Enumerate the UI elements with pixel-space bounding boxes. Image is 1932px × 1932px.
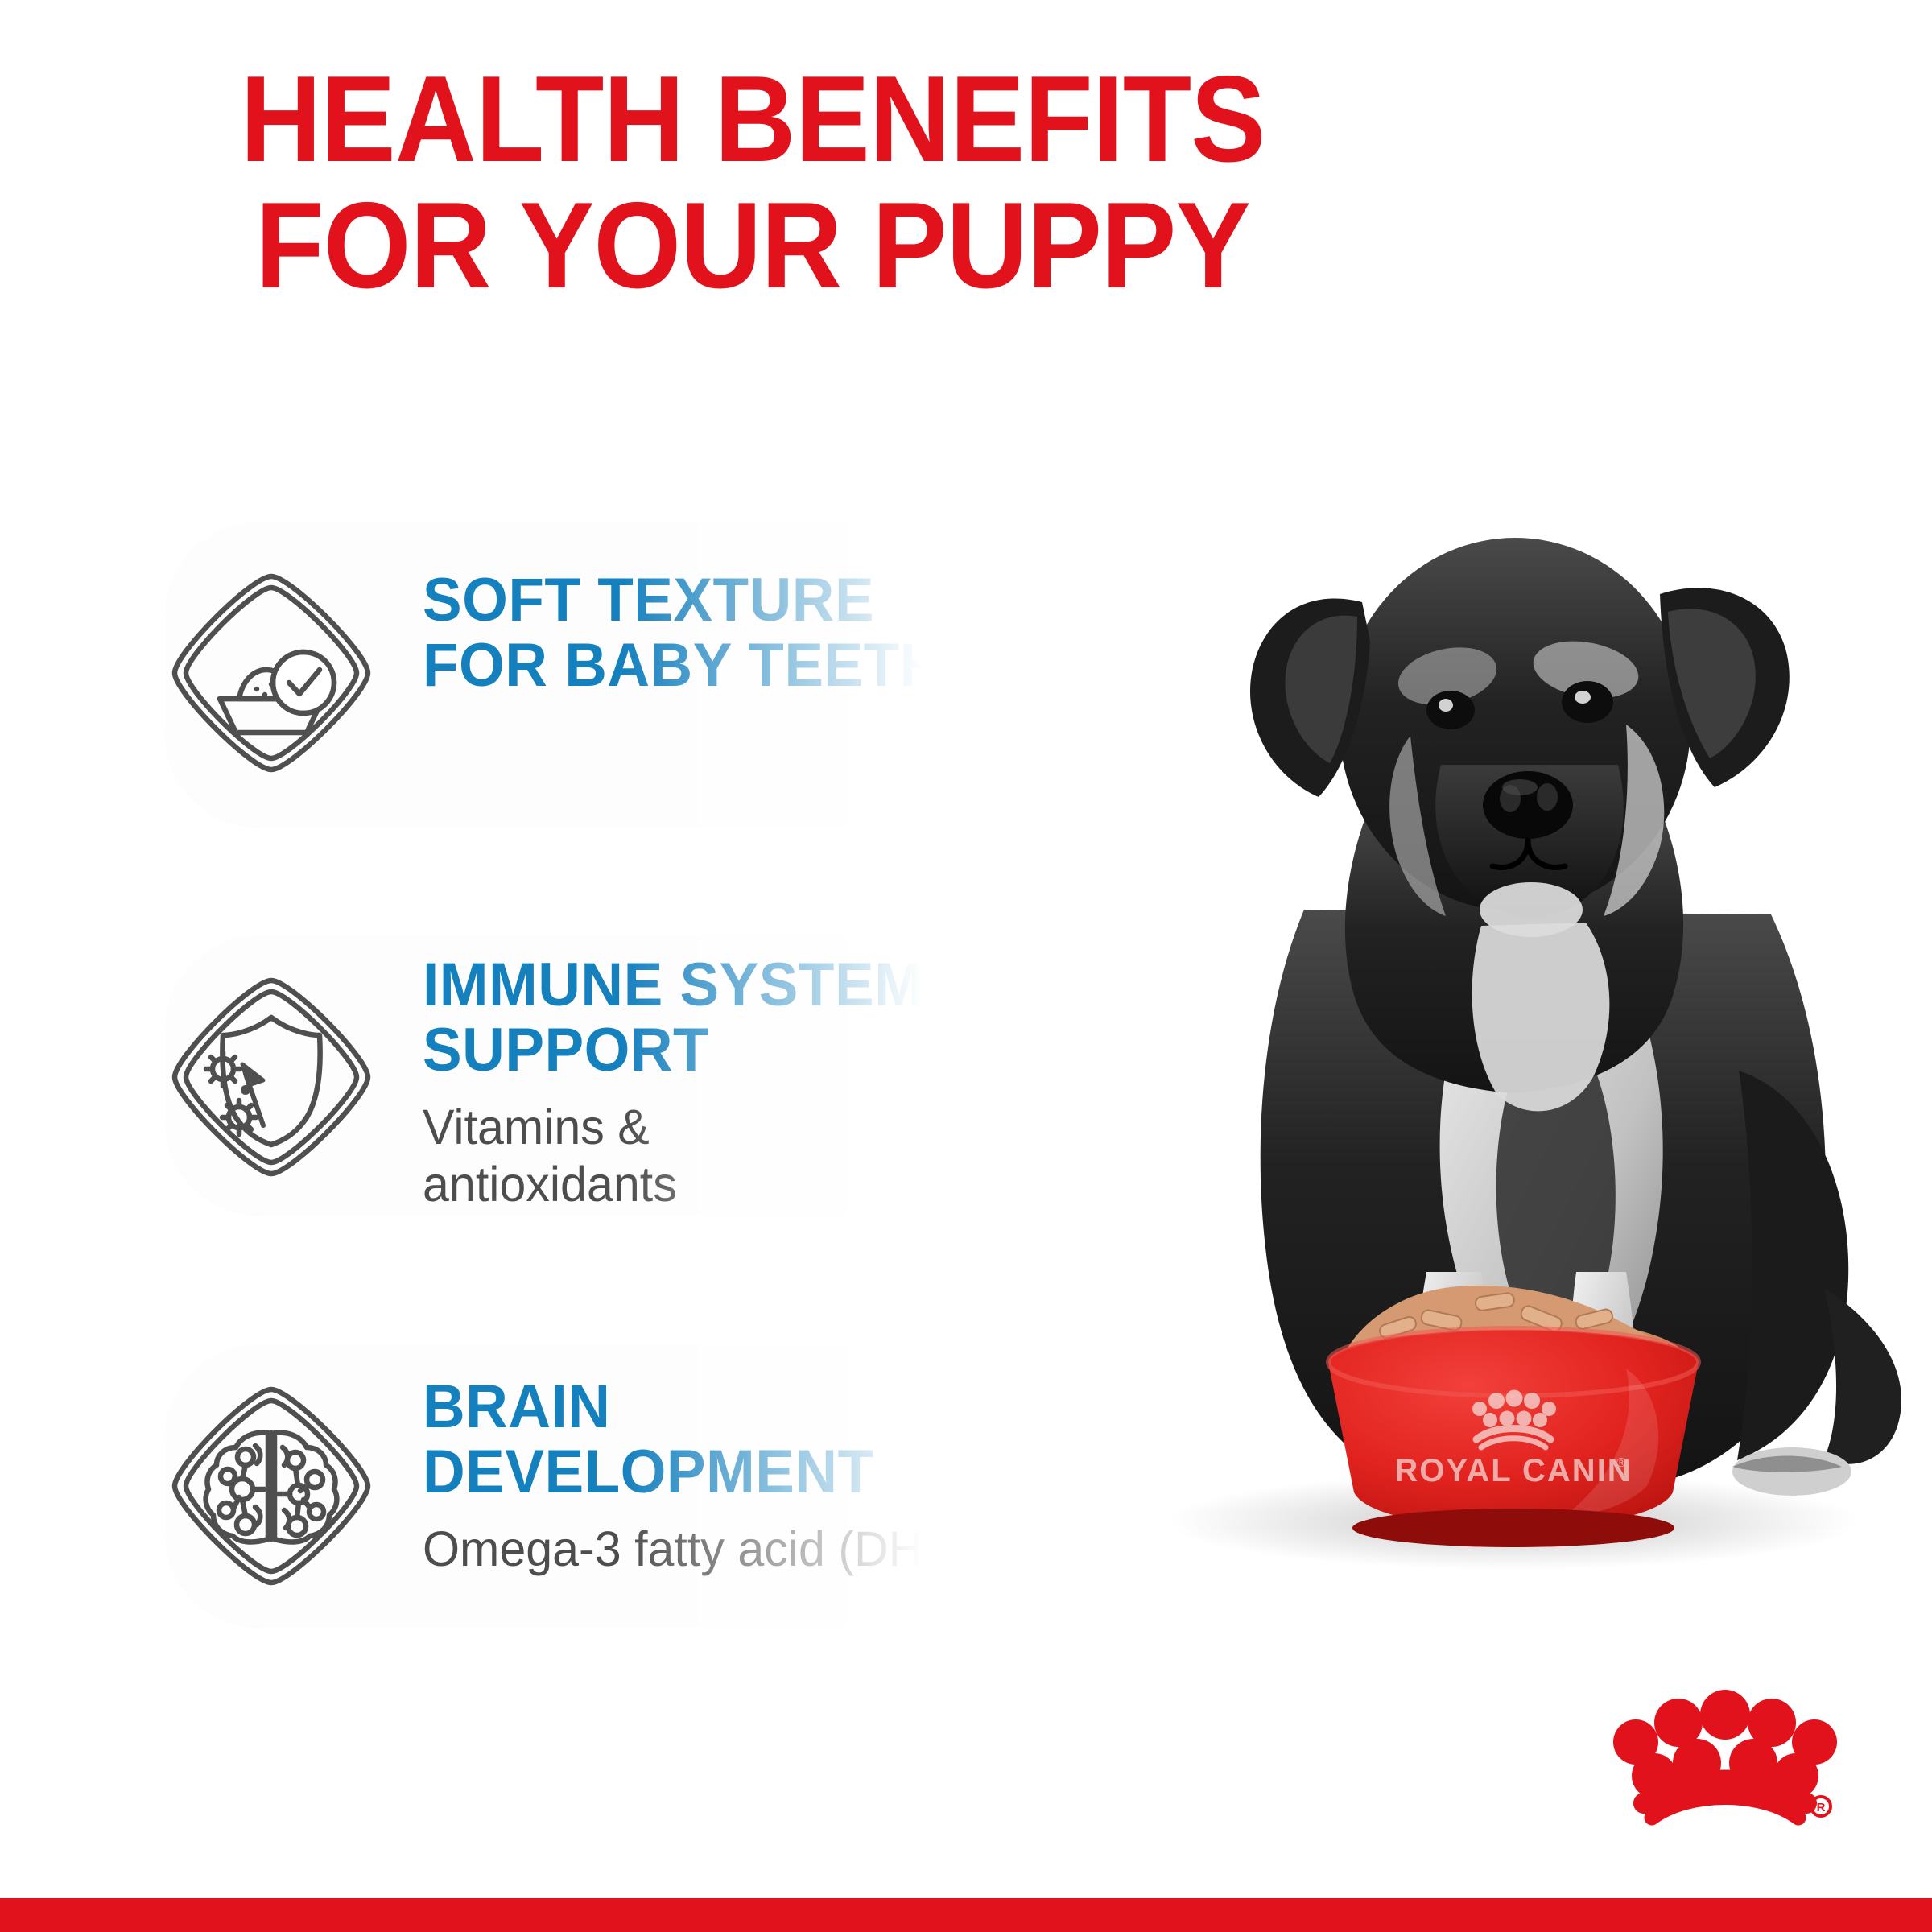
benefit-text-block: IMMUNE SYSTEM SUPPORT Vitamins & antioxi… [423, 953, 1034, 1213]
benefits-list: SOFT TEXTURE FOR BABY TEETH [165, 522, 954, 1628]
benefit-card-immune-system[interactable]: IMMUNE SYSTEM SUPPORT Vitamins & antioxi… [165, 935, 954, 1216]
benefit-subtitle: Vitamins & antioxidants [423, 1099, 1016, 1213]
promo-page: HEALTH BENEFITS FOR YOUR PUPPY [0, 0, 1932, 1932]
benefit-text-block: SOFT TEXTURE FOR BABY TEETH [423, 568, 1034, 714]
benefit-card-soft-texture[interactable]: SOFT TEXTURE FOR BABY TEETH [165, 522, 954, 828]
brain-neurons-icon [151, 1365, 392, 1607]
benefit-text-block: BRAIN DEVELOPMENT Omega-3 fatty acid (DH… [423, 1375, 1034, 1578]
svg-text:ROYAL CANIN: ROYAL CANIN [1394, 1453, 1632, 1488]
bottom-red-bar [0, 1898, 1932, 1932]
benefit-title: BRAIN DEVELOPMENT [423, 1375, 1010, 1505]
royal-canin-crown-logo: R [1608, 1668, 1842, 1837]
shield-germs-icon [151, 956, 392, 1198]
benefit-title: SOFT TEXTURE FOR BABY TEETH [423, 568, 1010, 698]
food-bowl-check-icon [151, 552, 392, 794]
benefit-title: IMMUNE SYSTEM SUPPORT [423, 953, 1010, 1083]
benefit-card-brain-development[interactable]: BRAIN DEVELOPMENT Omega-3 fatty acid (DH… [165, 1344, 954, 1628]
puppy-photo: ROYAL CANIN ® [1063, 346, 1932, 1715]
registered-mark: R [1817, 1801, 1826, 1814]
svg-text:®: ® [1616, 1456, 1626, 1470]
page-title: HEALTH BENEFITS FOR YOUR PUPPY [60, 56, 1445, 308]
benefit-subtitle: Omega-3 fatty acid (DHA) [423, 1521, 1016, 1578]
